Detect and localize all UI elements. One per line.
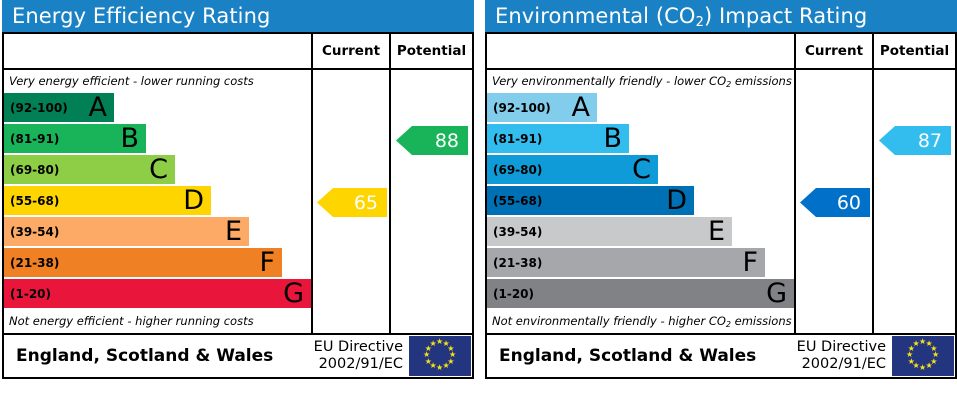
energy-efficiency-body: Very energy efficient - lower running co… — [4, 70, 472, 333]
co2-current-rating-arrow: 60 — [800, 188, 870, 217]
co2-band-f-range: (21-38) — [487, 256, 542, 270]
epc-charts-page: Energy Efficiency Rating Current Potenti… — [0, 0, 957, 404]
co2-current-rating-value: 60 — [837, 192, 861, 214]
energy-efficiency-caption-bottom: Not energy efficient - higher running co… — [4, 310, 311, 333]
band-a-range: (92-100) — [4, 101, 68, 115]
energy-efficiency-title-text: Energy Efficiency Rating — [12, 4, 270, 28]
energy-efficiency-rating-chart: Energy Efficiency Rating Current Potenti… — [2, 0, 474, 404]
co2-impact-caption-bottom: Not environmentally friendly - higher CO… — [487, 310, 794, 333]
energy-efficiency-table: Current Potential Very energy efficient … — [2, 32, 474, 335]
co2-impact-current-column: 60 — [794, 70, 872, 333]
co2-band-b-letter: B — [603, 124, 622, 151]
co2-band-d: (55-68) D — [487, 186, 694, 215]
co2-potential-rating-value: 87 — [918, 130, 942, 152]
energy-efficiency-title: Energy Efficiency Rating — [2, 0, 474, 32]
band-f-range: (21-38) — [4, 256, 59, 270]
co2-impact-title: Environmental (CO2) Impact Rating — [485, 0, 957, 32]
co2-band-c-range: (69-80) — [487, 163, 542, 177]
footer-region-label: England, Scotland & Wales — [4, 346, 314, 366]
current-rating-value: 65 — [354, 192, 378, 214]
co2-impact-header-current: Current — [794, 34, 872, 68]
band-f-letter: F — [259, 248, 275, 275]
co2-band-e: (39-54) E — [487, 217, 732, 246]
co2-impact-table: Current Potential Very environmentally f… — [485, 32, 957, 335]
co2-impact-title-prefix: Environmental (CO — [495, 4, 696, 28]
co2-caption-bottom-subscript: 2 — [726, 320, 731, 329]
co2-impact-header-potential: Potential — [872, 34, 955, 68]
band-b-letter: B — [120, 124, 139, 151]
band-d: (55-68) D — [4, 186, 211, 215]
energy-efficiency-header-row: Current Potential — [4, 34, 472, 70]
band-c: (69-80) C — [4, 155, 175, 184]
footer-directive-label: EU Directive 2002/91/EC — [314, 339, 409, 373]
co2-impact-bands-column: Very environmentally friendly - lower CO… — [487, 70, 794, 333]
co2-impact-title-subscript: 2 — [696, 15, 704, 30]
co2-impact-caption-top: Very environmentally friendly - lower CO… — [487, 70, 794, 93]
co2-footer-region-label: England, Scotland & Wales — [487, 346, 797, 366]
band-f: (21-38) F — [4, 248, 282, 277]
footer-directive-line2: 2002/91/EC — [314, 356, 403, 373]
co2-band-e-range: (39-54) — [487, 225, 542, 239]
band-e: (39-54) E — [4, 217, 249, 246]
co2-impact-body: Very environmentally friendly - lower CO… — [487, 70, 955, 333]
band-b-range: (81-91) — [4, 132, 59, 146]
energy-efficiency-footer: England, Scotland & Wales EU Directive 2… — [2, 335, 474, 379]
co2-band-d-range: (55-68) — [487, 194, 542, 208]
co2-band-f: (21-38) F — [487, 248, 765, 277]
energy-efficiency-header-blank — [4, 34, 311, 68]
co2-caption-bottom-suffix: emissions — [731, 314, 792, 328]
co2-footer-directive-label: EU Directive 2002/91/EC — [797, 339, 892, 373]
energy-efficiency-current-column: 65 — [311, 70, 389, 333]
band-d-letter: D — [183, 186, 204, 213]
band-b: (81-91) B — [4, 124, 146, 153]
energy-efficiency-header-current: Current — [311, 34, 389, 68]
band-c-range: (69-80) — [4, 163, 59, 177]
energy-efficiency-potential-column: 88 — [389, 70, 472, 333]
co2-band-c: (69-80) C — [487, 155, 658, 184]
co2-band-e-letter: E — [708, 217, 725, 244]
band-g-range: (1-20) — [4, 287, 51, 301]
co2-band-a-letter: A — [572, 93, 590, 120]
co2-impact-footer: England, Scotland & Wales EU Directive 2… — [485, 335, 957, 379]
co2-impact-title-suffix: ) Impact Rating — [704, 4, 867, 28]
band-e-letter: E — [225, 217, 242, 244]
co2-impact-rating-chart: Environmental (CO2) Impact Rating Curren… — [485, 0, 957, 404]
co2-impact-header-row: Current Potential — [487, 34, 955, 70]
band-e-range: (39-54) — [4, 225, 59, 239]
co2-band-f-letter: F — [742, 248, 758, 275]
co2-band-d-letter: D — [666, 186, 687, 213]
co2-band-a: (92-100) A — [487, 93, 597, 122]
co2-band-g-range: (1-20) — [487, 287, 534, 301]
co2-caption-top-prefix: Very environmentally friendly - lower CO — [492, 74, 726, 88]
co2-impact-potential-column: 87 — [872, 70, 955, 333]
energy-efficiency-caption-top: Very energy efficient - lower running co… — [4, 70, 311, 93]
co2-eu-flag-icon — [892, 336, 954, 376]
eu-flag-icon — [409, 336, 471, 376]
co2-impact-header-blank — [487, 34, 794, 68]
co2-footer-directive-line2: 2002/91/EC — [797, 356, 886, 373]
band-d-range: (55-68) — [4, 194, 59, 208]
co2-band-b: (81-91) B — [487, 124, 629, 153]
band-a: (92-100) A — [4, 93, 114, 122]
co2-caption-top-subscript: 2 — [726, 80, 731, 89]
band-a-letter: A — [89, 93, 107, 120]
potential-rating-value: 88 — [435, 130, 459, 152]
footer-directive-line1: EU Directive — [314, 339, 403, 356]
co2-band-g-letter: G — [766, 279, 787, 306]
co2-caption-bottom-prefix: Not environmentally friendly - higher CO — [492, 314, 726, 328]
co2-band-g: (1-20) G — [487, 279, 794, 308]
band-g: (1-20) G — [4, 279, 311, 308]
current-rating-arrow: 65 — [317, 188, 387, 217]
co2-band-a-range: (92-100) — [487, 101, 551, 115]
band-g-letter: G — [283, 279, 304, 306]
potential-rating-arrow: 88 — [396, 126, 468, 155]
co2-footer-directive-line1: EU Directive — [797, 339, 886, 356]
energy-efficiency-bands-column: Very energy efficient - lower running co… — [4, 70, 311, 333]
co2-band-b-range: (81-91) — [487, 132, 542, 146]
co2-caption-top-suffix: emissions — [731, 74, 792, 88]
co2-band-c-letter: C — [632, 155, 651, 182]
energy-efficiency-header-potential: Potential — [389, 34, 472, 68]
co2-potential-rating-arrow: 87 — [879, 126, 951, 155]
band-c-letter: C — [149, 155, 168, 182]
